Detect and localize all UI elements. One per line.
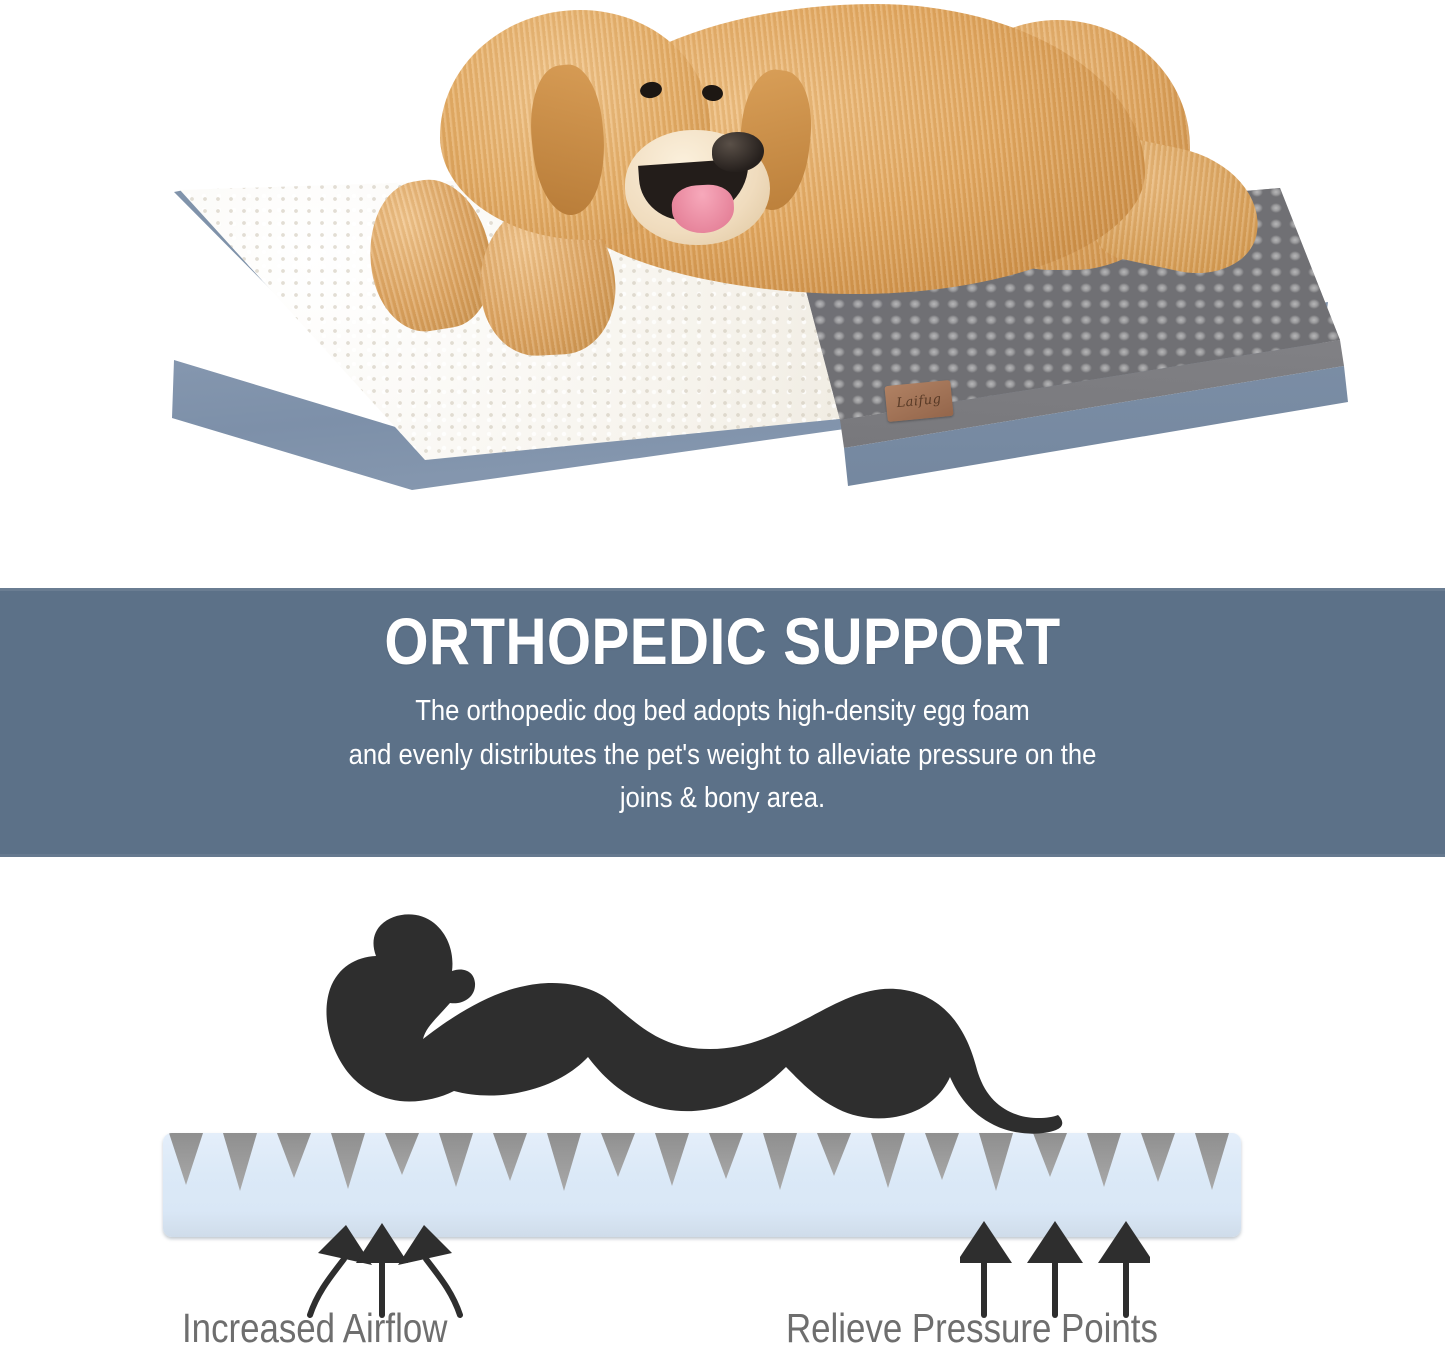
banner-subtitle-line-1: The orthopedic dog bed adopts high-densi… xyxy=(72,690,1373,733)
banner-title: ORTHOPEDIC SUPPORT xyxy=(101,607,1344,676)
dog-ear-left xyxy=(524,62,611,219)
brand-tag-label: Laifug xyxy=(896,391,942,410)
brand-leather-tag: Laifug xyxy=(884,380,953,422)
dog-silhouette-icon xyxy=(258,909,1188,1144)
cross-section-diagram-section: Increased Airflow Relieve Pressure Point… xyxy=(0,857,1445,1364)
dog-bed-product-image: Laifug xyxy=(0,0,1445,588)
golden-retriever-photo xyxy=(330,0,1150,360)
headline-banner: ORTHOPEDIC SUPPORT The orthopedic dog be… xyxy=(0,588,1445,857)
caption-relieve-pressure-points: Relieve Pressure Points xyxy=(786,1305,1158,1352)
banner-subtitle-line-3: joins & bony area. xyxy=(72,777,1373,820)
dog-eye-left xyxy=(639,80,663,100)
product-photo-section: Laifug xyxy=(0,0,1445,588)
banner-subtitle-line-2: and evenly distributes the pet's weight … xyxy=(72,734,1373,777)
caption-increased-airflow: Increased Airflow xyxy=(182,1305,447,1352)
dog-head xyxy=(440,10,710,240)
banner-subtitle: The orthopedic dog bed adopts high-densi… xyxy=(72,690,1373,820)
